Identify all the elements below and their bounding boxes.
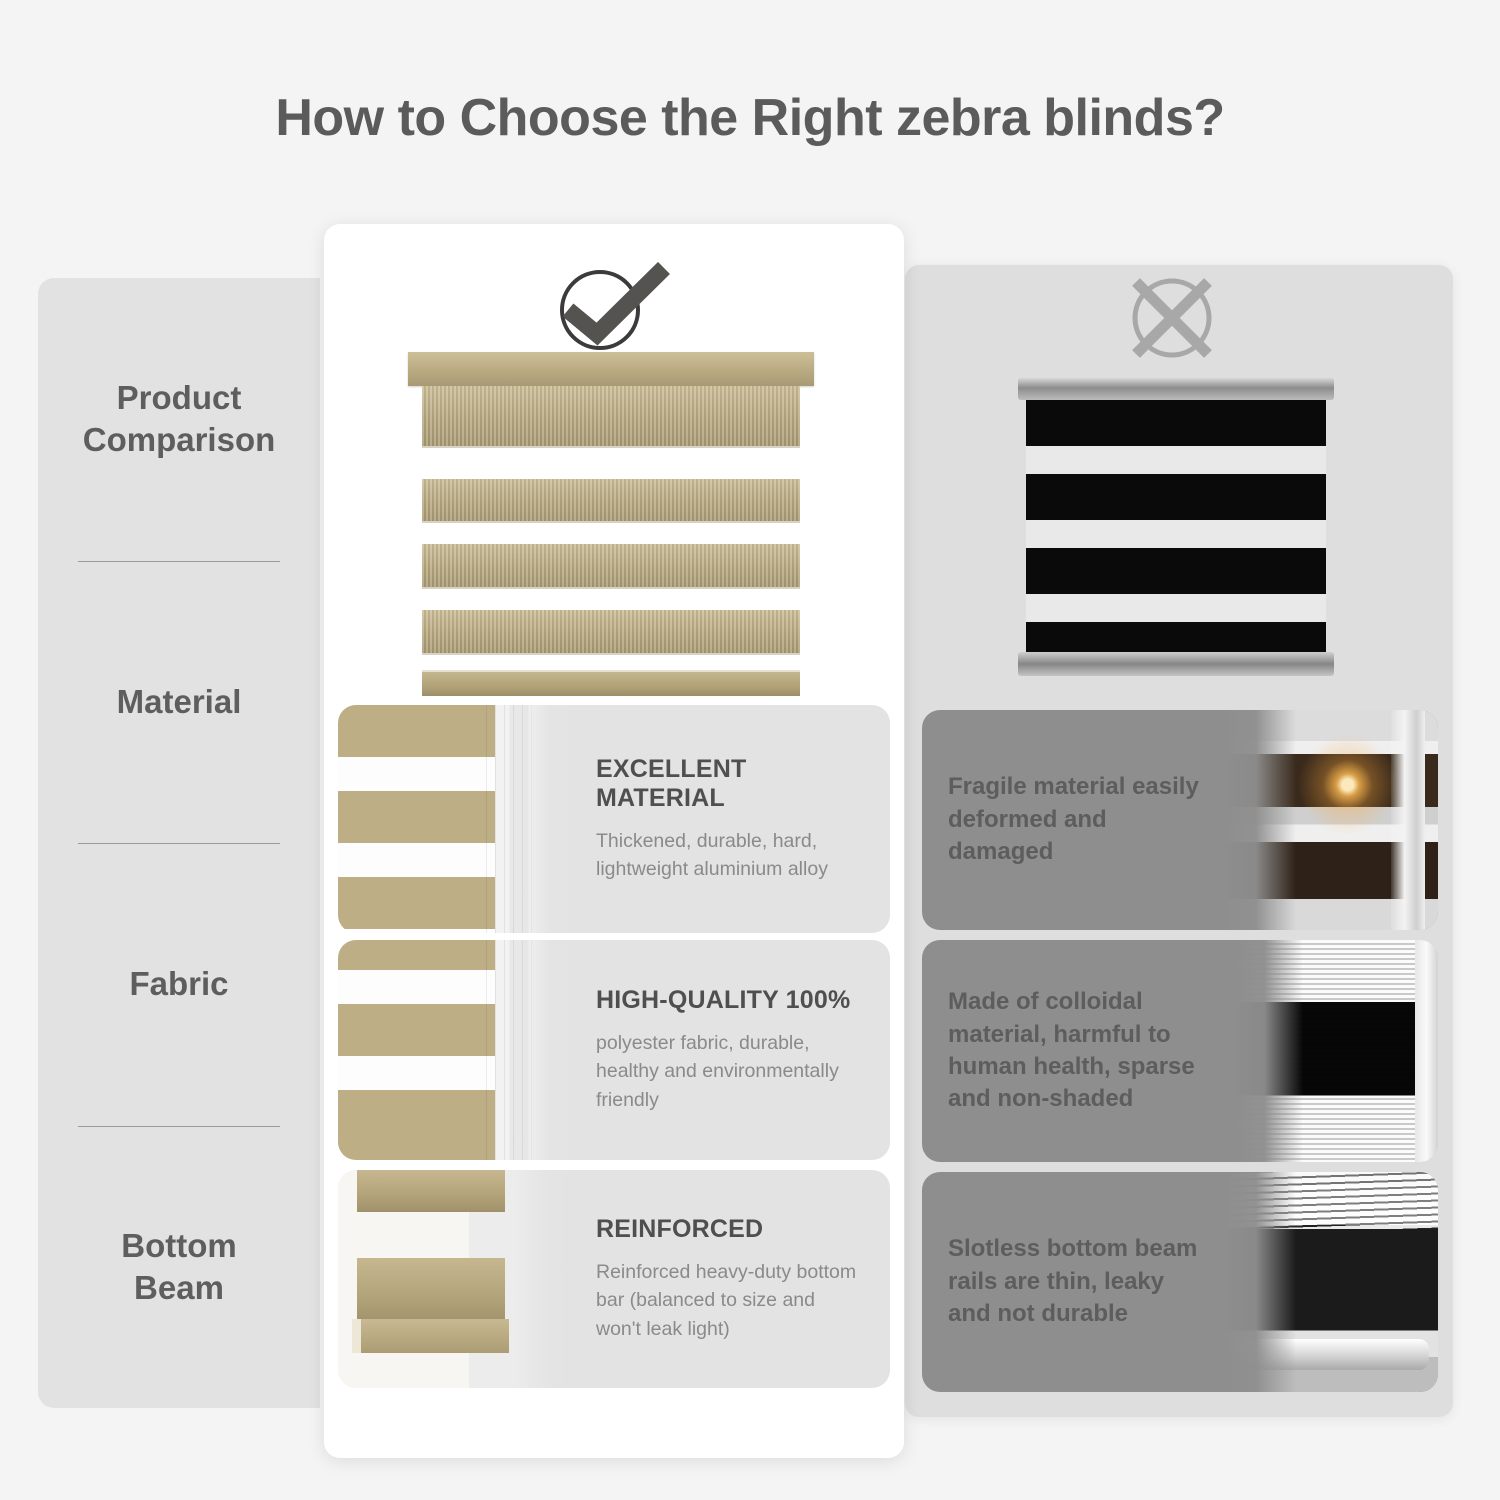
sidebar-item-fabric: Fabric: [38, 843, 320, 1126]
bad-bottom-beam-text: Slotless bottom beam rails are thin, lea…: [922, 1172, 1223, 1392]
zebra-fabric: [1026, 400, 1326, 652]
bad-hero-product-image: [1018, 378, 1334, 676]
bad-row-fabric: Made of colloidal material, harmful to h…: [922, 940, 1438, 1162]
sidebar-item-label: Material: [117, 681, 242, 723]
sidebar-item-label: Product Comparison: [83, 377, 276, 461]
bad-material-image: [1223, 710, 1438, 930]
bad-fabric-image: [1233, 940, 1438, 1162]
sidebar-item-label: Bottom Beam: [121, 1225, 236, 1309]
bottom-rail: [1018, 652, 1334, 676]
headrail: [408, 352, 814, 386]
good-fabric-text: HIGH-QUALITY 100% polyester fabric, dura…: [576, 940, 890, 1160]
sidebar-item-label: Fabric: [129, 963, 228, 1005]
bad-material-body: Fragile material easily deformed and dam…: [948, 771, 1205, 868]
good-material-heading: EXCELLENT MATERIAL: [596, 755, 864, 813]
good-bottom-beam-body: Reinforced heavy-duty bottom bar (balanc…: [596, 1258, 864, 1343]
good-material-body: Thickened, durable, hard, lightweight al…: [596, 827, 864, 884]
good-material-image: [338, 705, 576, 933]
sidebar-item-bottom-beam: Bottom Beam: [38, 1126, 320, 1409]
comparison-infographic: How to Choose the Right zebra blinds? Pr…: [0, 0, 1500, 1500]
headrail: [1018, 378, 1334, 400]
bad-fabric-body: Made of colloidal material, harmful to h…: [948, 986, 1215, 1116]
bad-material-text: Fragile material easily deformed and dam…: [922, 710, 1223, 930]
category-sidebar: Product Comparison Material Fabric Botto…: [38, 278, 320, 1408]
good-bottom-beam-text: REINFORCED Reinforced heavy-duty bottom …: [576, 1170, 890, 1388]
sidebar-item-material: Material: [38, 561, 320, 844]
good-bottom-beam-image: [338, 1170, 576, 1388]
bad-bottom-beam-body: Slotless bottom beam rails are thin, lea…: [948, 1233, 1205, 1330]
good-hero-product-image: [408, 352, 814, 696]
good-row-material: EXCELLENT MATERIAL Thickened, durable, h…: [338, 705, 890, 933]
good-row-fabric: HIGH-QUALITY 100% polyester fabric, dura…: [338, 940, 890, 1160]
blind-slat: [422, 544, 800, 589]
bottom-bar: [422, 670, 800, 696]
good-fabric-heading: HIGH-QUALITY 100%: [596, 986, 864, 1015]
good-material-text: EXCELLENT MATERIAL Thickened, durable, h…: [576, 705, 890, 933]
blind-slat: [422, 610, 800, 655]
bad-bottom-beam-image: [1223, 1172, 1438, 1392]
good-row-bottom-beam: REINFORCED Reinforced heavy-duty bottom …: [338, 1170, 890, 1388]
cross-circle-icon: [1122, 272, 1222, 364]
good-fabric-body: polyester fabric, durable, healthy and e…: [596, 1029, 864, 1114]
page-title: How to Choose the Right zebra blinds?: [0, 88, 1500, 148]
sidebar-item-product-comparison: Product Comparison: [38, 278, 320, 561]
bad-fabric-text: Made of colloidal material, harmful to h…: [922, 940, 1233, 1162]
bad-row-material: Fragile material easily deformed and dam…: [922, 710, 1438, 930]
check-circle-icon: [552, 262, 672, 354]
good-fabric-image: [338, 940, 576, 1160]
blind-slat: [422, 479, 800, 523]
bad-row-bottom-beam: Slotless bottom beam rails are thin, lea…: [922, 1172, 1438, 1392]
blind-slat: [422, 386, 800, 448]
good-bottom-beam-heading: REINFORCED: [596, 1215, 864, 1244]
